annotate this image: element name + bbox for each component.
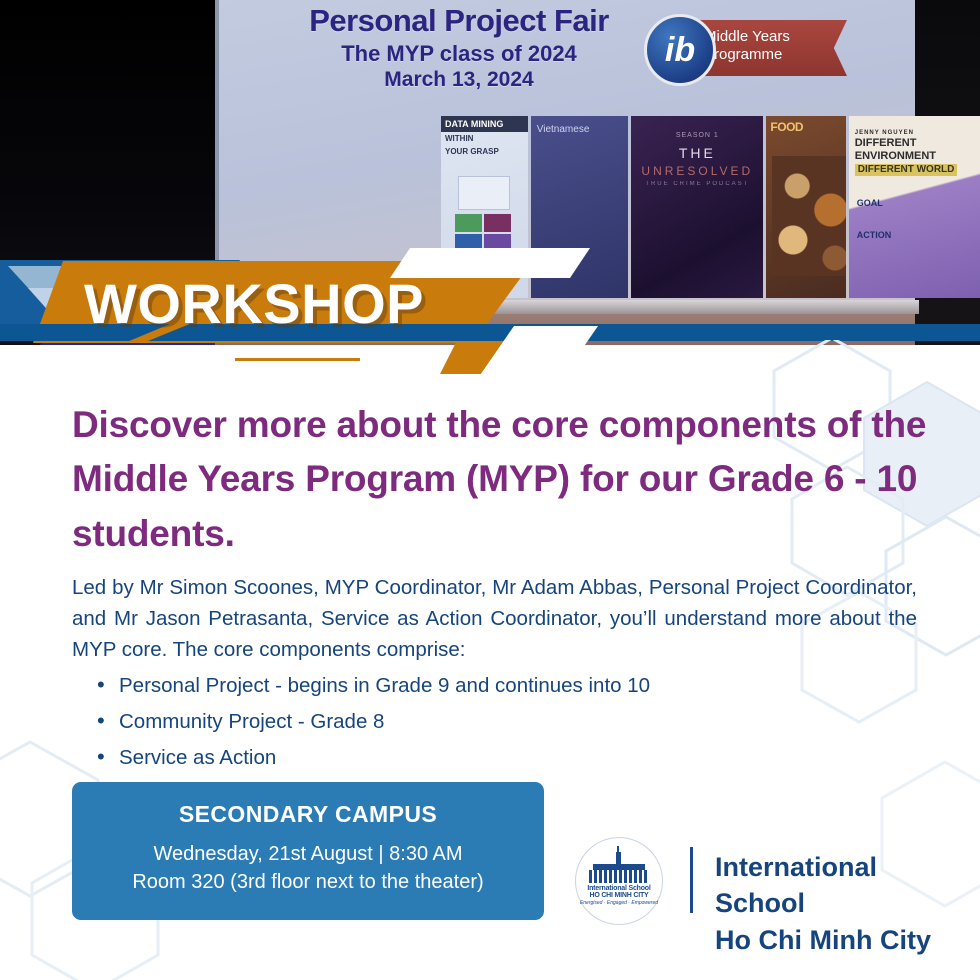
list-item: Personal Project - begins in Grade 9 and… — [95, 670, 835, 701]
poster-action-label: ACTION — [849, 208, 980, 240]
poster-title3: DIFFERENT WORLD — [855, 164, 958, 176]
seal-building-icon — [589, 857, 649, 883]
list-item: Service as Action — [95, 742, 835, 773]
slide-date: March 13, 2024 — [259, 68, 659, 92]
poster-title: Vietnamese — [531, 116, 628, 143]
event-datetime: Wednesday, 21st August | 8:30 AM — [72, 843, 544, 866]
core-components-list: Personal Project - begins in Grade 9 and… — [95, 670, 835, 778]
ib-roundel-icon: ib — [644, 14, 716, 86]
poster-subtitle: WITHIN — [441, 132, 528, 145]
poster-eyebrow: SEASON 1 — [631, 132, 763, 139]
page-lede: Led by Mr Simon Scoones, MYP Coordinator… — [72, 572, 917, 665]
ib-programme-line1: Middle Years — [704, 28, 847, 46]
event-details-box: SECONDARY CAMPUS Wednesday, 21st August … — [72, 782, 544, 920]
school-seal-icon: International School HO CHI MINH CITY En… — [575, 837, 663, 925]
poster-title1: DIFFERENT — [855, 137, 980, 150]
school-branding: International School HO CHI MINH CITY En… — [575, 835, 935, 931]
banner-label: WORKSHOP — [84, 273, 524, 335]
brand-divider — [690, 847, 693, 913]
list-item: Community Project - Grade 8 — [95, 706, 835, 737]
poster-goal-label: GOAL — [849, 176, 980, 208]
brand-name-line2: Ho Chi Minh City — [715, 922, 935, 958]
seal-line1: International School — [587, 885, 650, 892]
poster-title: DATA MINING — [441, 116, 528, 132]
poster-author: JENNY NGUYEN — [855, 130, 980, 137]
ib-myp-logo: Middle Years Programme ib — [634, 14, 849, 84]
seal-tagline: Energised · Engaged · Empowered — [580, 900, 658, 906]
campus-title: SECONDARY CAMPUS — [72, 801, 544, 828]
poster-title: FOOD — [766, 116, 845, 138]
slide-subtitle: The MYP class of 2024 — [259, 42, 659, 67]
brand-wordmark: International School Ho Chi Minh City — [715, 849, 935, 958]
poster-subtitle2: YOUR GRASP — [441, 145, 528, 158]
content-area: Discover more about the core components … — [0, 340, 980, 980]
poster-swatches — [455, 214, 513, 252]
workshop-poster: Personal Project Fair The MYP class of 2… — [0, 0, 980, 980]
page-headline: Discover more about the core components … — [72, 398, 928, 561]
slide-title: Personal Project Fair — [259, 4, 659, 39]
poster-title-main: UNRESOLVED — [631, 164, 763, 178]
slide-title-block: Personal Project Fair The MYP class of 2… — [259, 4, 659, 92]
poster-title2: ENVIRONMENT — [855, 150, 980, 163]
poster-title: THE — [631, 145, 763, 161]
brand-name-line1: International School — [715, 849, 935, 922]
ib-programme-line2: Programme — [704, 46, 847, 64]
seal-line2: HO CHI MINH CITY — [589, 892, 648, 899]
poster-tagline: TRUE CRIME PODCAST — [631, 181, 763, 187]
poster-image-tile — [458, 176, 510, 210]
event-location: Room 320 (3rd floor next to the theater) — [72, 871, 544, 894]
